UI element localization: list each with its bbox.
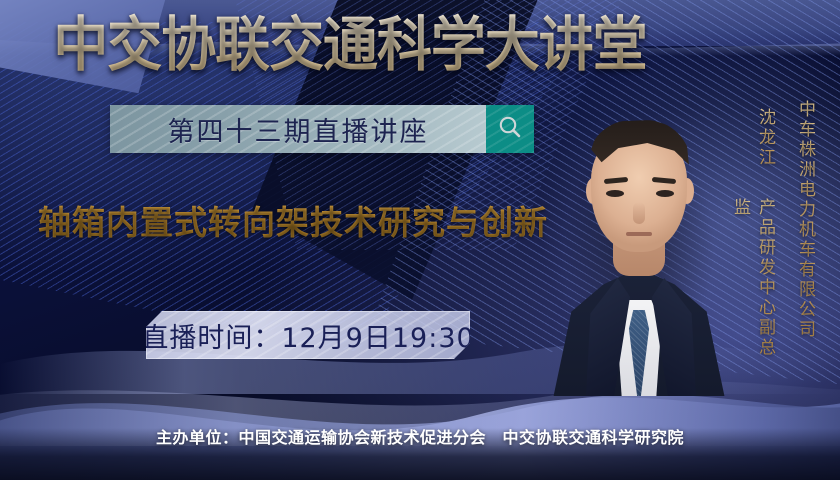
broadcast-time-text: 直播时间：12月9日19:30 xyxy=(146,316,470,355)
lecture-topic: 轴箱内置式转向架技术研究与创新 xyxy=(38,196,548,244)
organizer-footer: 主办单位：中国交通运输协会新技术促进分会 中交协联交通科学研究院 xyxy=(0,424,840,448)
portrait-mouth xyxy=(626,232,652,236)
search-icon xyxy=(497,114,523,144)
speaker-company: 中车株洲电力机车有限公司 xyxy=(793,100,818,350)
live-lecture-poster: 中交协联交通科学大讲堂 第四十三期直播讲座 轴箱内置式转向架技术研究与创新 直播… xyxy=(0,0,840,480)
speaker-portrait xyxy=(548,96,730,396)
search-button[interactable] xyxy=(486,105,534,153)
speaker-name: 沈龙江 xyxy=(753,108,778,188)
session-label: 第四十三期直播讲座 xyxy=(168,110,429,149)
session-banner-fill: 第四十三期直播讲座 xyxy=(110,105,486,153)
broadcast-time-badge: 直播时间：12月9日19:30 xyxy=(146,311,470,359)
page-title: 中交协联交通科学大讲堂 xyxy=(25,8,676,82)
session-banner: 第四十三期直播讲座 xyxy=(110,105,534,153)
portrait-eye-left xyxy=(606,190,624,197)
portrait-nose xyxy=(633,202,645,224)
portrait-eye-right xyxy=(656,190,674,197)
speaker-role: 产品研发中心副总监 xyxy=(728,198,778,368)
